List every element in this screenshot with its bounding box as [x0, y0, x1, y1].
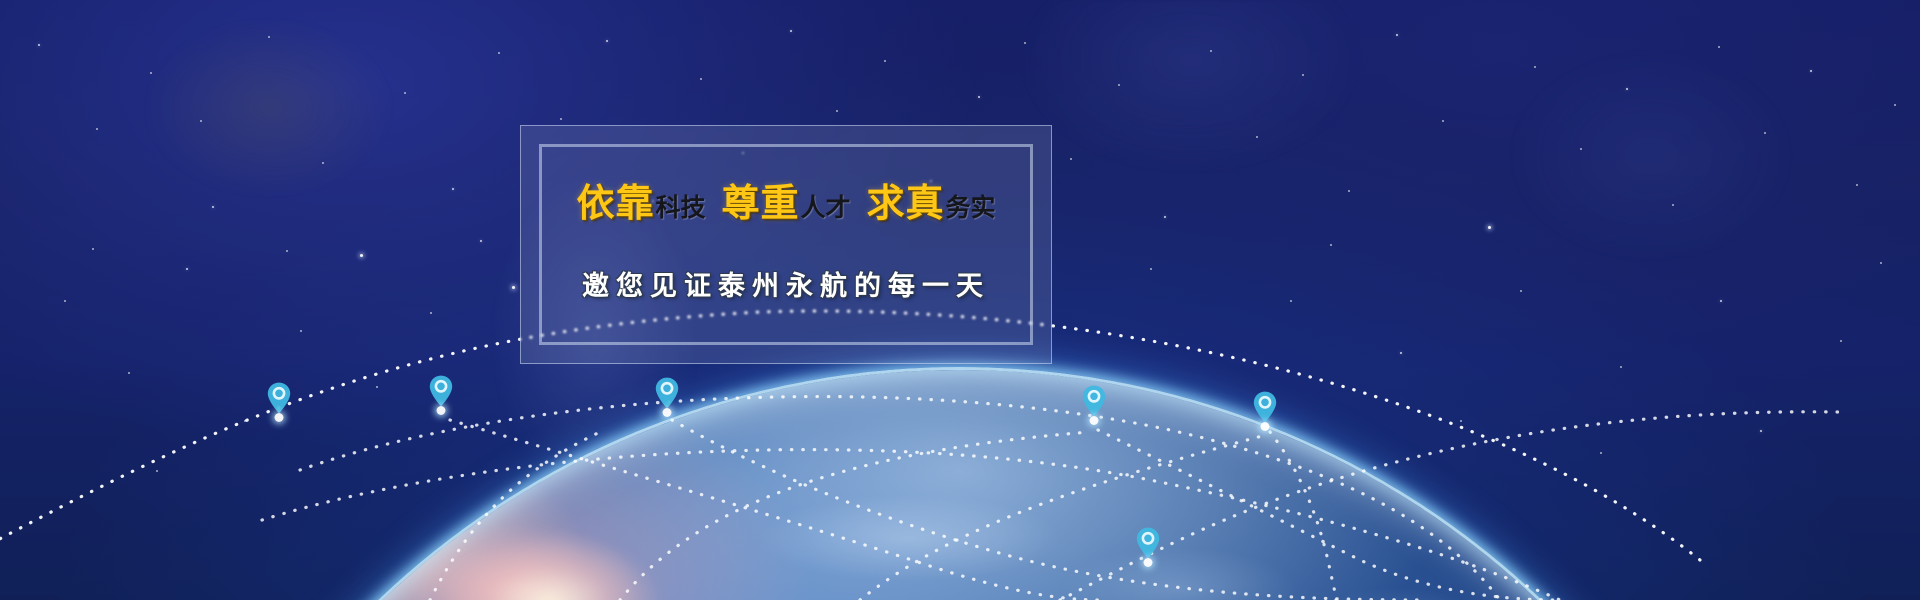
star	[1302, 74, 1304, 76]
star	[1810, 70, 1812, 72]
star	[38, 44, 40, 46]
location-pin-icon	[1135, 526, 1161, 560]
headline-segment-4: 人才	[801, 195, 851, 220]
star	[1024, 42, 1026, 44]
star	[884, 60, 886, 62]
pin-europe	[428, 374, 454, 408]
star	[606, 40, 608, 42]
pin-east-asia	[1081, 384, 1107, 418]
location-pin-icon	[1252, 390, 1278, 424]
pin-south	[1135, 526, 1161, 560]
earth-atmosphere-rim	[117, 367, 1803, 600]
headline-segment-5: 求真	[867, 184, 945, 222]
location-pin-icon	[654, 376, 680, 410]
pin-base-dot	[663, 408, 672, 417]
pin-base-dot	[1090, 416, 1099, 425]
star	[404, 92, 406, 94]
star	[1894, 104, 1896, 106]
headline-segment-6: 务实	[946, 195, 996, 220]
pin-west-atlantic	[266, 381, 292, 415]
banner-subtitle: 邀您见证泰州永航的每一天	[521, 264, 1051, 303]
pin-base-dot	[1261, 422, 1270, 431]
star	[1534, 66, 1536, 68]
star	[150, 72, 152, 74]
headline-segment-2: 科技	[655, 195, 705, 220]
star	[1718, 46, 1720, 48]
headline-segment-1: 依靠	[576, 184, 654, 222]
pin-base-dot	[275, 413, 284, 422]
pin-base-dot	[437, 406, 446, 415]
star	[836, 110, 838, 112]
star	[700, 78, 702, 80]
star	[1396, 34, 1398, 36]
location-pin-icon	[428, 374, 454, 408]
location-pin-icon	[266, 381, 292, 415]
pin-base-dot	[1144, 558, 1153, 567]
hero-banner: 依靠科技尊重人才求真务实 邀您见证泰州永航的每一天	[0, 0, 1920, 600]
banner-headline: 依靠科技尊重人才求真务实	[521, 184, 1051, 222]
location-pin-icon	[1081, 384, 1107, 418]
pin-central	[654, 376, 680, 410]
star	[1626, 88, 1628, 90]
pin-pacific	[1252, 390, 1278, 424]
headline-segment-3: 尊重	[721, 184, 799, 222]
content-frame: 依靠科技尊重人才求真务实 邀您见证泰州永航的每一天	[520, 125, 1052, 364]
star	[498, 52, 500, 54]
earth-globe	[120, 370, 1800, 600]
star	[790, 30, 792, 32]
star	[1210, 50, 1212, 52]
star	[978, 96, 980, 98]
star	[1118, 84, 1120, 86]
banner-copy: 依靠科技尊重人才求真务实 邀您见证泰州永航的每一天	[521, 184, 1051, 303]
star	[268, 36, 270, 38]
